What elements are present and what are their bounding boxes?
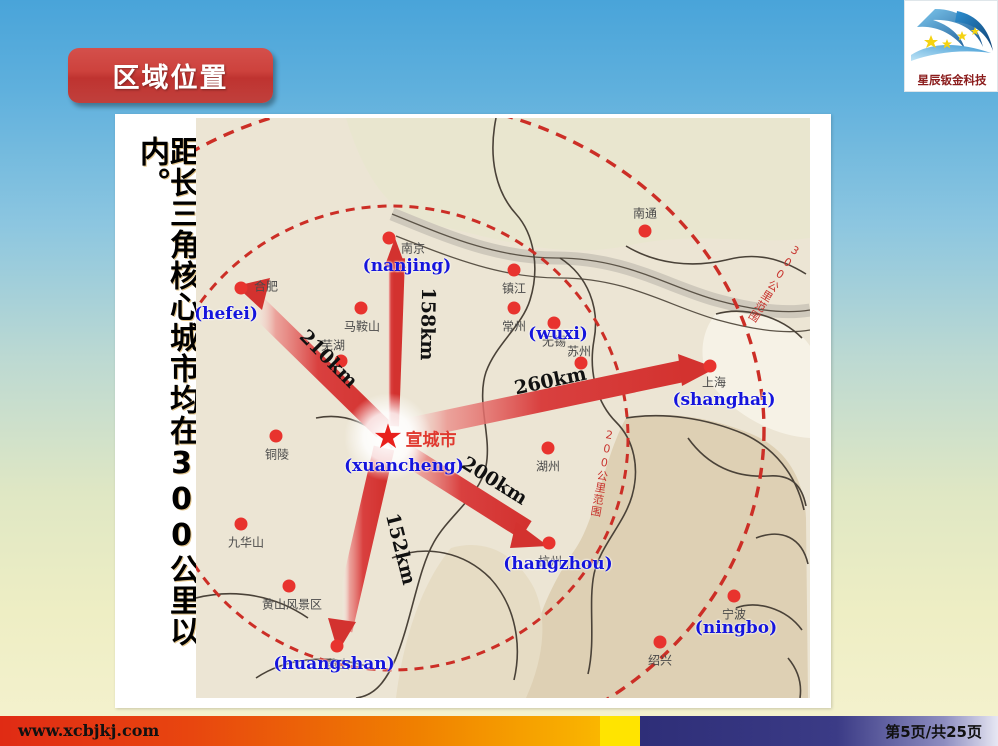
footer-website-url[interactable]: www.xcbjkj.com (18, 721, 159, 740)
city-dot-nanjing (383, 232, 396, 245)
vertical-caption: 距长三角核心城市均在300公里以内。 (140, 136, 196, 696)
city-label-shaoxing: 绍兴 (648, 652, 672, 669)
city-label-suzhou: 苏州 (567, 343, 591, 360)
city-label-nantong: 南通 (633, 205, 657, 222)
pinyin-label-shanghai: (shanghai) (672, 390, 775, 410)
city-dot-maanshan (355, 302, 368, 315)
pinyin-label-wuxi: (wuxi) (528, 324, 588, 344)
pinyin-label-hefei: (hefei) (196, 304, 258, 324)
city-dot-jiuhuashan (235, 518, 248, 531)
city-label-shanghai: 上海 (702, 374, 726, 391)
city-label-huzhou: 湖州 (536, 458, 560, 475)
city-dot-huzhou (542, 442, 555, 455)
city-dot-huangshan-scenic (283, 580, 296, 593)
footer-page-number: 第5页/共25页 (885, 721, 982, 742)
slide-title-banner: 区域位置 (68, 48, 273, 103)
hub-label-pinyin: (xuancheng) (344, 456, 464, 476)
city-label-tongling: 铜陵 (265, 446, 289, 463)
city-dot-hangzhou (543, 537, 556, 550)
company-logo: 星辰钣金科技 (904, 0, 998, 92)
city-dot-ningbo (728, 590, 741, 603)
city-label-nanjing: 南京 (401, 240, 425, 257)
city-dot-hefei (235, 282, 248, 295)
city-dot-huangshan (331, 640, 344, 653)
hub-label-cn: 宣城市 (406, 426, 457, 451)
city-dot-tongling (270, 430, 283, 443)
city-dot-shaoxing (654, 636, 667, 649)
city-label-maanshan: 马鞍山 (344, 318, 380, 335)
slide-footer: www.xcbjkj.com 第5页/共25页 (0, 716, 998, 746)
city-label-jiuhuashan: 九华山 (228, 534, 264, 551)
city-dot-nantong (639, 225, 652, 238)
city-label-hefei: 合肥 (254, 278, 278, 295)
pinyin-label-nanjing: (nanjing) (363, 256, 452, 276)
city-label-changzhou: 常州 (502, 318, 526, 335)
pinyin-label-ningbo: (ningbo) (695, 618, 777, 638)
region-map: 南京 合肥 无锡 上海 杭州 宁波 黄山 镇江 常州 南通 苏州 湖州 绍兴 马… (196, 118, 810, 698)
distance-label-nanjing: 158km (416, 287, 439, 360)
city-label-zhenjiang: 镇江 (502, 280, 526, 297)
page-title: 区域位置 (113, 56, 229, 95)
logo-text: 星辰钣金科技 (905, 72, 998, 88)
city-dot-zhenjiang (508, 264, 521, 277)
city-dot-shanghai (704, 360, 717, 373)
pinyin-label-huangshan: (huangshan) (273, 654, 394, 674)
swoosh-icon (905, 3, 998, 65)
pinyin-label-hangzhou: (hangzhou) (503, 554, 612, 574)
hub-star-icon: ★ (373, 420, 403, 454)
city-label-huangshan-scenic: 黄山风景区 (262, 596, 322, 613)
city-dot-changzhou (508, 302, 521, 315)
